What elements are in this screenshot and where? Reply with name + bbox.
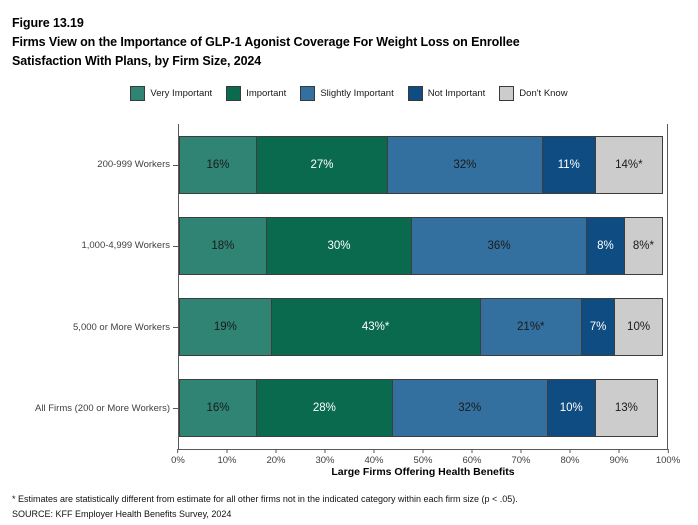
y-axis-category-label: 1,000-4,999 Workers bbox=[0, 217, 178, 275]
chart-title-line-1: Firms View on the Importance of GLP-1 Ag… bbox=[12, 33, 662, 52]
x-axis-tick-mark bbox=[275, 449, 276, 453]
bar-segment[interactable]: 16% bbox=[179, 379, 257, 437]
bar-segment-label: 27% bbox=[310, 159, 333, 171]
bar-segment-label: 36% bbox=[488, 240, 511, 252]
bar-segment[interactable]: 16% bbox=[179, 136, 257, 194]
chart-legend: Very ImportantImportantSlightly Importan… bbox=[0, 86, 698, 101]
legend-item[interactable]: Slightly Important bbox=[300, 86, 393, 101]
figure-number: Figure 13.19 bbox=[12, 14, 662, 33]
x-axis-ticks: 0%10%20%30%40%50%60%70%80%90%100% bbox=[178, 449, 668, 467]
chart-title-line-2: Satisfaction With Plans, by Firm Size, 2… bbox=[12, 52, 662, 71]
bar-segment[interactable]: 43%* bbox=[271, 298, 481, 356]
legend-swatch-icon bbox=[226, 86, 241, 101]
legend-swatch-icon bbox=[408, 86, 423, 101]
x-axis-tick-mark bbox=[471, 449, 472, 453]
y-axis-category-label: All Firms (200 or More Workers) bbox=[0, 379, 178, 437]
bar-segment-label: 28% bbox=[313, 402, 336, 414]
x-axis-tick-label: 60% bbox=[462, 455, 481, 466]
bar-segment[interactable]: 14%* bbox=[595, 136, 663, 194]
legend-item[interactable]: Very Important bbox=[130, 86, 212, 101]
x-axis-tick: 10% bbox=[217, 449, 236, 466]
bar-segment[interactable]: 13% bbox=[595, 379, 658, 437]
plot-area: 16%27%32%11%14%*18%30%36%8%8%*19%43%*21%… bbox=[178, 124, 668, 449]
x-axis-tick-mark bbox=[618, 449, 619, 453]
bar-segment-label: 19% bbox=[214, 321, 237, 333]
bar-segment-label: 30% bbox=[328, 240, 351, 252]
x-axis-tick: 20% bbox=[266, 449, 285, 466]
x-axis-tick-mark bbox=[569, 449, 570, 453]
bar-segment-label: 8% bbox=[597, 240, 614, 252]
bar-segment-label: 10% bbox=[627, 321, 650, 333]
stacked-bar-row[interactable]: 16%28%32%10%13% bbox=[179, 379, 667, 437]
bar-segment-label: 14%* bbox=[615, 159, 643, 171]
legend-item-label: Don't Know bbox=[519, 88, 567, 99]
bar-segment[interactable]: 28% bbox=[256, 379, 393, 437]
x-axis-tick: 70% bbox=[511, 449, 530, 466]
bar-segment[interactable]: 8% bbox=[586, 217, 625, 275]
x-axis-tick: 50% bbox=[413, 449, 432, 466]
x-axis-tick: 40% bbox=[364, 449, 383, 466]
stacked-bar-row[interactable]: 18%30%36%8%8%* bbox=[179, 217, 667, 275]
x-axis-tick-label: 70% bbox=[511, 455, 530, 466]
legend-item-label: Very Important bbox=[150, 88, 212, 99]
x-axis-tick-label: 40% bbox=[364, 455, 383, 466]
y-axis-category-label: 5,000 or More Workers bbox=[0, 298, 178, 356]
x-axis-tick-label: 20% bbox=[266, 455, 285, 466]
x-axis-tick-mark bbox=[373, 449, 374, 453]
bar-segment-label: 7% bbox=[590, 321, 607, 333]
stacked-bars-container: 16%27%32%11%14%*18%30%36%8%8%*19%43%*21%… bbox=[179, 124, 667, 449]
x-axis-tick-mark bbox=[226, 449, 227, 453]
bar-segment[interactable]: 10% bbox=[547, 379, 596, 437]
bar-segment[interactable]: 32% bbox=[392, 379, 548, 437]
bar-segment[interactable]: 18% bbox=[179, 217, 267, 275]
bar-segment-label: 8%* bbox=[633, 240, 654, 252]
x-axis-tick-label: 0% bbox=[171, 455, 185, 466]
x-axis-tick-mark bbox=[668, 449, 669, 453]
x-axis-tick-label: 80% bbox=[560, 455, 579, 466]
legend-item-label: Important bbox=[246, 88, 286, 99]
bar-segment-label: 10% bbox=[560, 402, 583, 414]
x-axis-tick-mark bbox=[177, 449, 178, 453]
stacked-bar-row[interactable]: 16%27%32%11%14%* bbox=[179, 136, 667, 194]
bar-segment[interactable]: 7% bbox=[581, 298, 615, 356]
stacked-bar-row[interactable]: 19%43%*21%*7%10% bbox=[179, 298, 667, 356]
bar-segment-label: 13% bbox=[615, 402, 638, 414]
bar-segment-label: 18% bbox=[211, 240, 234, 252]
bar-segment-label: 43%* bbox=[362, 321, 390, 333]
x-axis-tick-mark bbox=[520, 449, 521, 453]
bar-segment[interactable]: 8%* bbox=[624, 217, 663, 275]
title-block: Figure 13.19 Firms View on the Importanc… bbox=[12, 14, 662, 71]
bar-segment[interactable]: 21%* bbox=[480, 298, 582, 356]
bar-segment-label: 32% bbox=[453, 159, 476, 171]
footnote-source: SOURCE: KFF Employer Health Benefits Sur… bbox=[12, 507, 682, 522]
x-axis-tick-label: 10% bbox=[217, 455, 236, 466]
legend-swatch-icon bbox=[499, 86, 514, 101]
bar-segment-label: 16% bbox=[207, 159, 230, 171]
x-axis-tick: 0% bbox=[171, 449, 185, 466]
legend-swatch-icon bbox=[300, 86, 315, 101]
x-axis-tick: 100% bbox=[656, 449, 680, 466]
x-axis-tick-mark bbox=[422, 449, 423, 453]
legend-item[interactable]: Not Important bbox=[408, 86, 486, 101]
bar-segment[interactable]: 10% bbox=[614, 298, 663, 356]
bar-segment[interactable]: 11% bbox=[542, 136, 596, 194]
x-axis-tick-mark bbox=[324, 449, 325, 453]
legend-item[interactable]: Important bbox=[226, 86, 286, 101]
x-axis-tick-label: 100% bbox=[656, 455, 680, 466]
footnote-significance: * Estimates are statistically different … bbox=[12, 492, 682, 507]
bar-segment[interactable]: 27% bbox=[256, 136, 388, 194]
legend-item-label: Slightly Important bbox=[320, 88, 393, 99]
x-axis-tick-label: 90% bbox=[609, 455, 628, 466]
bar-segment[interactable]: 32% bbox=[387, 136, 543, 194]
x-axis-tick-label: 50% bbox=[413, 455, 432, 466]
bar-segment-label: 21%* bbox=[517, 321, 545, 333]
bar-segment-label: 16% bbox=[207, 402, 230, 414]
bar-segment-label: 11% bbox=[558, 159, 580, 171]
y-axis-category-labels: 200-999 Workers1,000-4,999 Workers5,000 … bbox=[0, 124, 178, 449]
legend-item[interactable]: Don't Know bbox=[499, 86, 567, 101]
bar-segment[interactable]: 19% bbox=[179, 298, 272, 356]
x-axis-tick: 90% bbox=[609, 449, 628, 466]
legend-item-label: Not Important bbox=[428, 88, 486, 99]
bar-segment[interactable]: 36% bbox=[411, 217, 587, 275]
legend-swatch-icon bbox=[130, 86, 145, 101]
x-axis-tick: 80% bbox=[560, 449, 579, 466]
x-axis-tick-label: 30% bbox=[315, 455, 334, 466]
bar-segment[interactable]: 30% bbox=[266, 217, 412, 275]
x-axis-tick: 60% bbox=[462, 449, 481, 466]
x-axis-title: Large Firms Offering Health Benefits bbox=[178, 466, 668, 478]
footnotes: * Estimates are statistically different … bbox=[12, 492, 682, 522]
bar-segment-label: 32% bbox=[458, 402, 481, 414]
y-axis-category-label: 200-999 Workers bbox=[0, 136, 178, 194]
x-axis-tick: 30% bbox=[315, 449, 334, 466]
